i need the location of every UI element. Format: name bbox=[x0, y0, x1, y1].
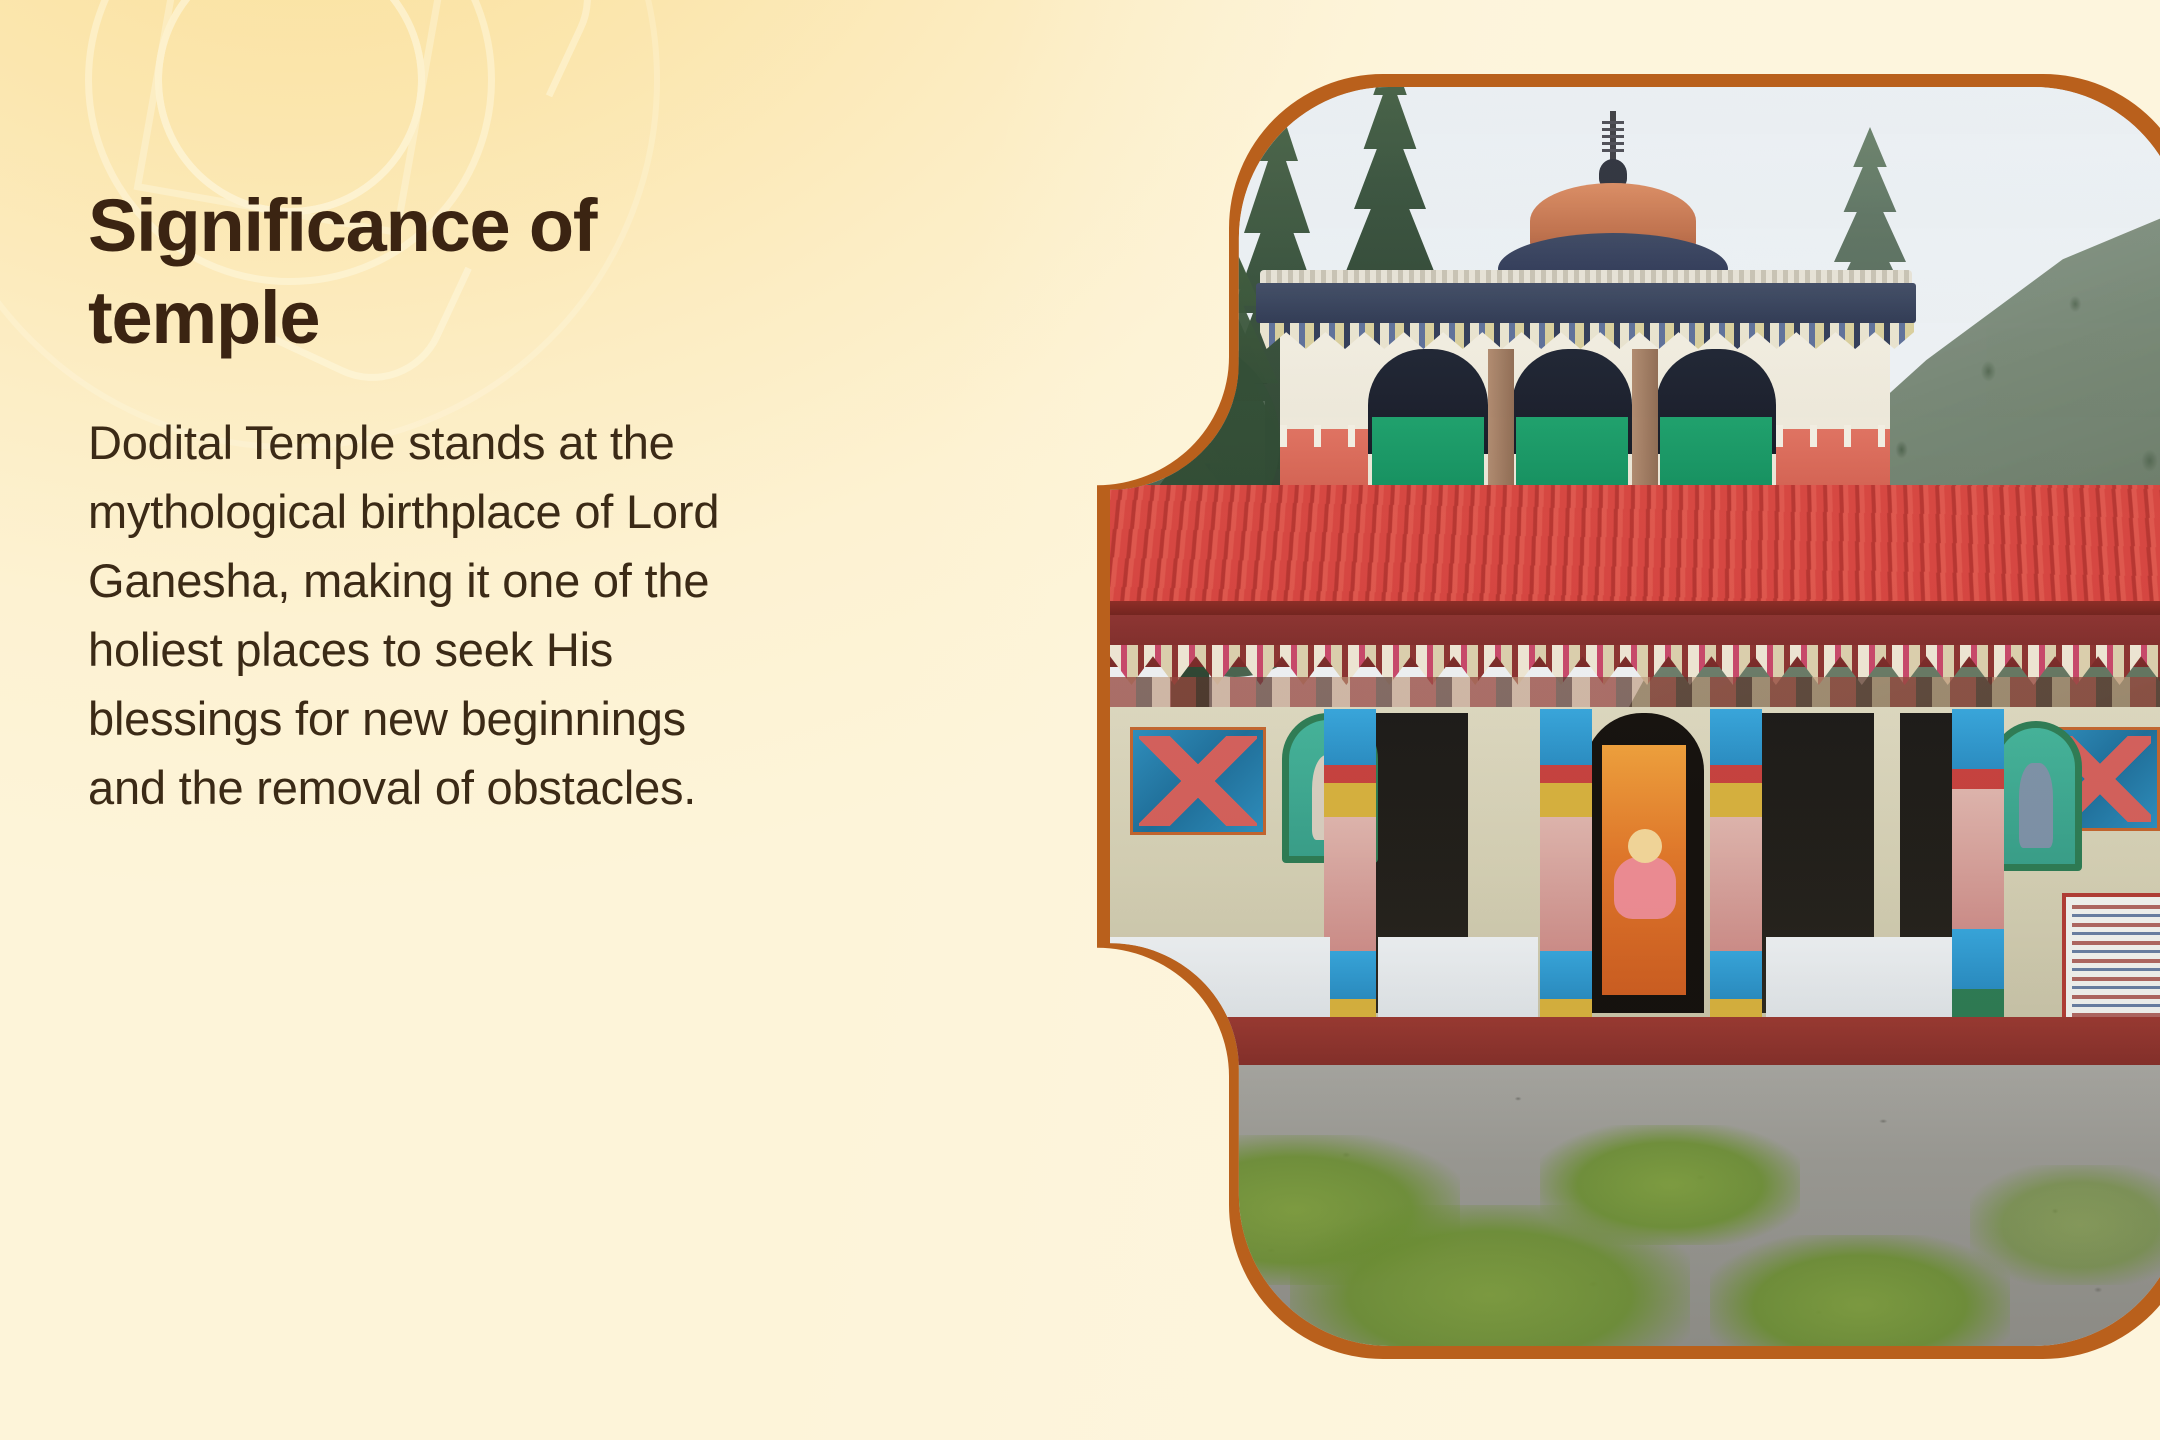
upper-scallop bbox=[1280, 425, 1368, 447]
painted-pillar bbox=[1952, 709, 2004, 1039]
text-column: Significance of temple Dodital Temple st… bbox=[88, 180, 768, 822]
upper-green-door bbox=[1516, 417, 1628, 491]
painted-pillar bbox=[1540, 709, 1592, 1039]
slide-canvas: Significance of temple Dodital Temple st… bbox=[0, 0, 2160, 1440]
ganesha-idol-body bbox=[1614, 857, 1676, 919]
gravel-courtyard bbox=[1110, 1065, 2160, 1346]
painted-pillar bbox=[1710, 709, 1762, 1039]
temple-scene bbox=[1110, 87, 2160, 1346]
finial-rings bbox=[1602, 121, 1624, 155]
upper-roof bbox=[1256, 283, 1916, 323]
grass-patch bbox=[1540, 1125, 1800, 1245]
upper-pillar bbox=[1488, 349, 1514, 495]
white-plinth-panel bbox=[1766, 937, 1952, 1023]
painted-pillar bbox=[1324, 709, 1376, 1039]
page-title: Significance of temple bbox=[88, 180, 608, 364]
red-corrugated-roof bbox=[1110, 485, 2160, 615]
upper-green-door bbox=[1660, 417, 1772, 491]
red-plinth bbox=[1110, 1017, 2160, 1069]
temple-photo bbox=[1110, 87, 2160, 1346]
grass-patch bbox=[1710, 1235, 2010, 1346]
upper-pillar bbox=[1632, 349, 1658, 495]
upper-green-door bbox=[1372, 417, 1484, 491]
niche-figure bbox=[2019, 763, 2053, 847]
upper-scallop bbox=[1776, 425, 1890, 447]
wall-mural bbox=[1130, 727, 1266, 835]
body-paragraph: Dodital Temple stands at the mythologica… bbox=[88, 408, 748, 822]
temple-photo-frame bbox=[1097, 74, 2160, 1359]
ganesha-idol-head bbox=[1628, 829, 1662, 863]
grass-patch bbox=[1970, 1165, 2160, 1285]
white-plinth-panel bbox=[1378, 937, 1538, 1023]
